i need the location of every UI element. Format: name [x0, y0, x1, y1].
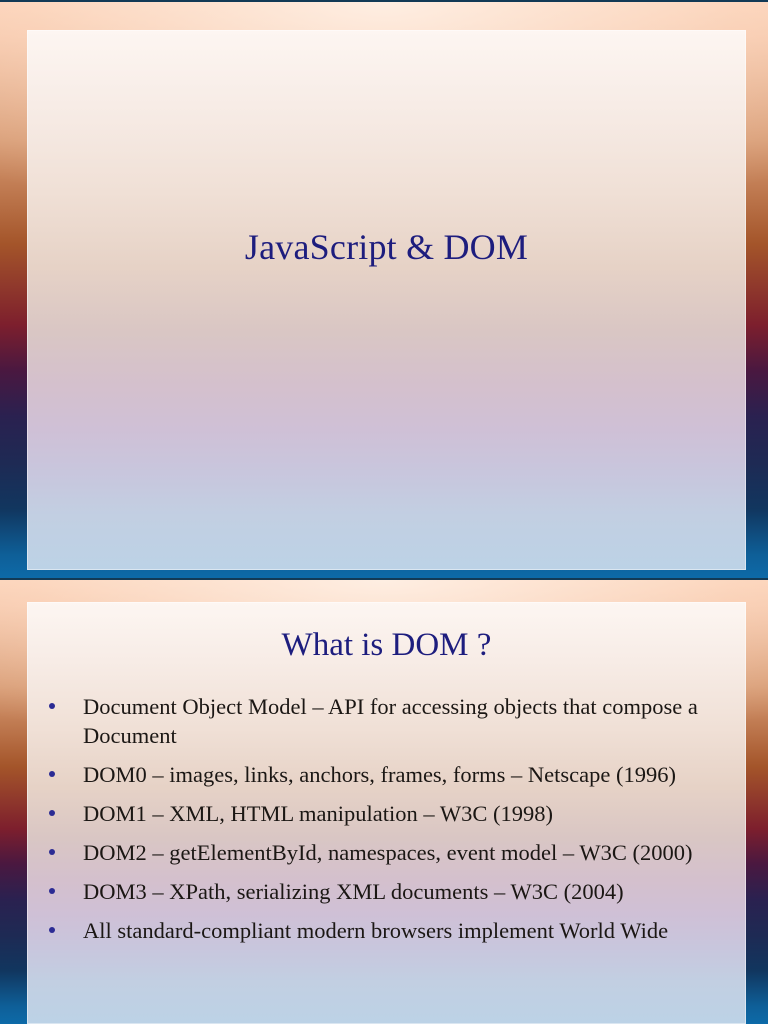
- list-item: DOM3 – XPath, serializing XML documents …: [41, 877, 738, 906]
- list-item: All standard-compliant modern browsers i…: [41, 916, 738, 945]
- slide-page-2: What is DOM ? Document Object Model – AP…: [0, 578, 768, 1024]
- slide-page-1: JavaScript & DOM: [0, 0, 768, 578]
- slide-heading: What is DOM ?: [27, 626, 746, 666]
- bullet-dot-icon: [49, 849, 55, 855]
- bullet-text: DOM2 – getElementById, namespaces, event…: [83, 838, 738, 867]
- bullet-dot-icon: [49, 810, 55, 816]
- bullet-dot-icon: [49, 888, 55, 894]
- bullet-dot-icon: [49, 703, 55, 709]
- presentation-document: JavaScript & DOM What is DOM ? Document …: [0, 0, 768, 1024]
- bullet-text: All standard-compliant modern browsers i…: [83, 916, 738, 945]
- bullet-text: DOM0 – images, links, anchors, frames, f…: [83, 760, 738, 789]
- bullet-text: DOM3 – XPath, serializing XML documents …: [83, 877, 738, 906]
- bullet-text: Document Object Model – API for accessin…: [83, 692, 738, 750]
- slide-canvas-1: JavaScript & DOM: [27, 30, 746, 570]
- bullet-text: DOM1 – XML, HTML manipulation – W3C (199…: [83, 799, 738, 828]
- bullet-dot-icon: [49, 927, 55, 933]
- slide-title: JavaScript & DOM: [27, 226, 746, 269]
- bullet-dot-icon: [49, 771, 55, 777]
- slide-canvas-2: What is DOM ? Document Object Model – AP…: [27, 602, 746, 1024]
- list-item: DOM0 – images, links, anchors, frames, f…: [41, 760, 738, 789]
- list-item: DOM1 – XML, HTML manipulation – W3C (199…: [41, 799, 738, 828]
- list-item: Document Object Model – API for accessin…: [41, 692, 738, 750]
- bullet-list: Document Object Model – API for accessin…: [41, 692, 738, 955]
- list-item: DOM2 – getElementById, namespaces, event…: [41, 838, 738, 867]
